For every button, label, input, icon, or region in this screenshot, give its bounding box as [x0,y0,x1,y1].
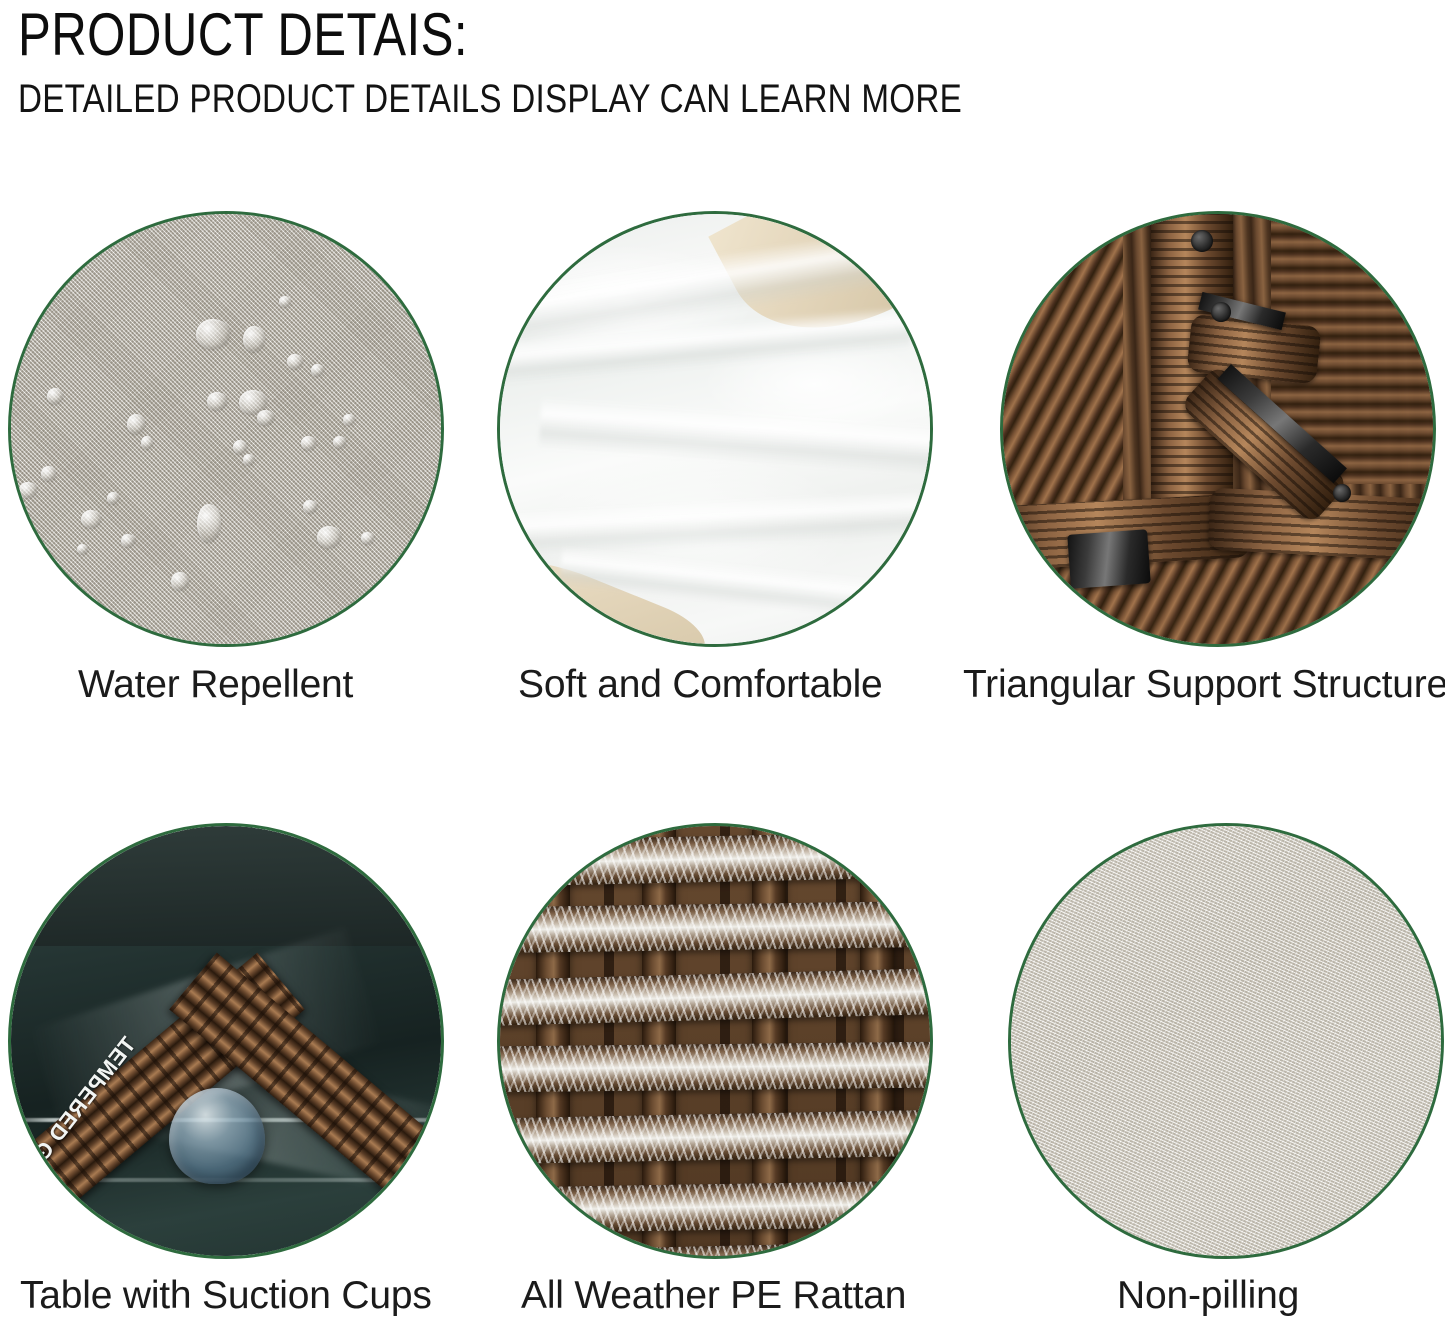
suction-cup [169,1088,265,1184]
metal-plate-lower-left [1067,529,1151,588]
feature-image-circle [497,211,933,647]
page-subtitle: DETAILED PRODUCT DETAILS DISPLAY CAN LEA… [18,66,1180,122]
mesh-fabric-texture [11,214,441,644]
feature-image [500,826,930,1256]
feature-image [500,214,930,644]
feature-caption: Non-pilling [1117,1274,1299,1318]
feature-image: TEMPERED GLASS [11,826,441,1256]
feature-image-circle [1000,211,1436,647]
beige-fabric-texture [1011,826,1441,1256]
header-block: PRODUCT DETAIS: DETAILED PRODUCT DETAILS… [18,0,1418,122]
feature-caption: Soft and Comfortable [518,663,883,707]
rattan-lattice-panel [1003,214,1123,534]
rattan-horizontal-strand [500,1180,930,1233]
feature-image-circle [1008,823,1444,1259]
feature-image [1003,214,1433,644]
feature-caption: Table with Suction Cups [20,1274,432,1318]
rattan-horizontal-strand [500,901,930,954]
page-title: PRODUCT DETAIS: [18,0,1166,66]
feature-image [1011,826,1441,1256]
feature-caption: All Weather PE Rattan [521,1274,906,1318]
feature-image-circle [497,823,933,1259]
feature-caption: Water Repellent [78,663,353,707]
feature-image-circle: TEMPERED GLASS [8,823,444,1259]
bolt-head [1191,230,1213,252]
bolt-head [1211,302,1231,322]
feature-image [11,214,441,644]
feature-image-circle [8,211,444,647]
rattan-horizontal-strand [500,831,930,887]
rattan-horizontal-strand [500,1042,930,1093]
feature-caption: Triangular Support Structure [963,663,1445,707]
rattan-horizontal-strand [500,1109,930,1164]
bolt-head [1333,484,1351,502]
